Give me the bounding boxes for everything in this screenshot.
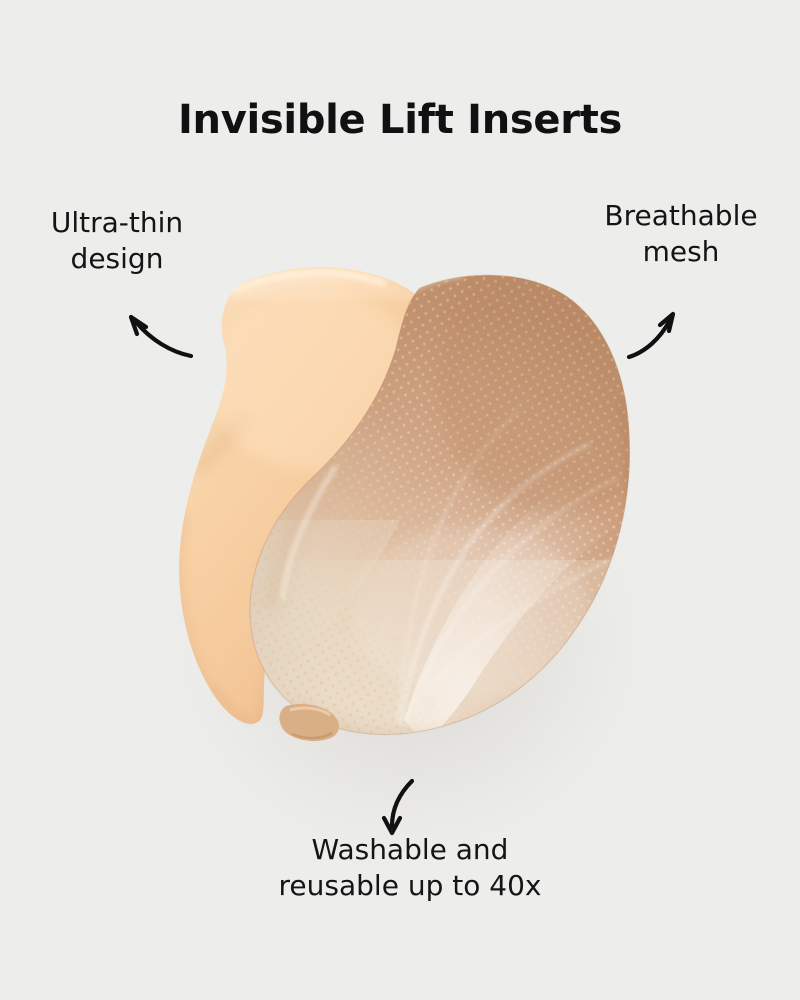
curved-arrow-up-right-icon (629, 314, 673, 357)
callout-label-breathable-mesh: Breathable mesh (570, 198, 792, 270)
callout-label-washable: Washable and reusable up to 40x (225, 832, 595, 904)
product-infographic: Invisible Lift Inserts (0, 0, 800, 1000)
callout-label-ultra-thin: Ultra-thin design (12, 205, 222, 277)
curved-arrow-down-icon (384, 781, 412, 833)
curved-arrow-up-left-icon (131, 317, 191, 356)
